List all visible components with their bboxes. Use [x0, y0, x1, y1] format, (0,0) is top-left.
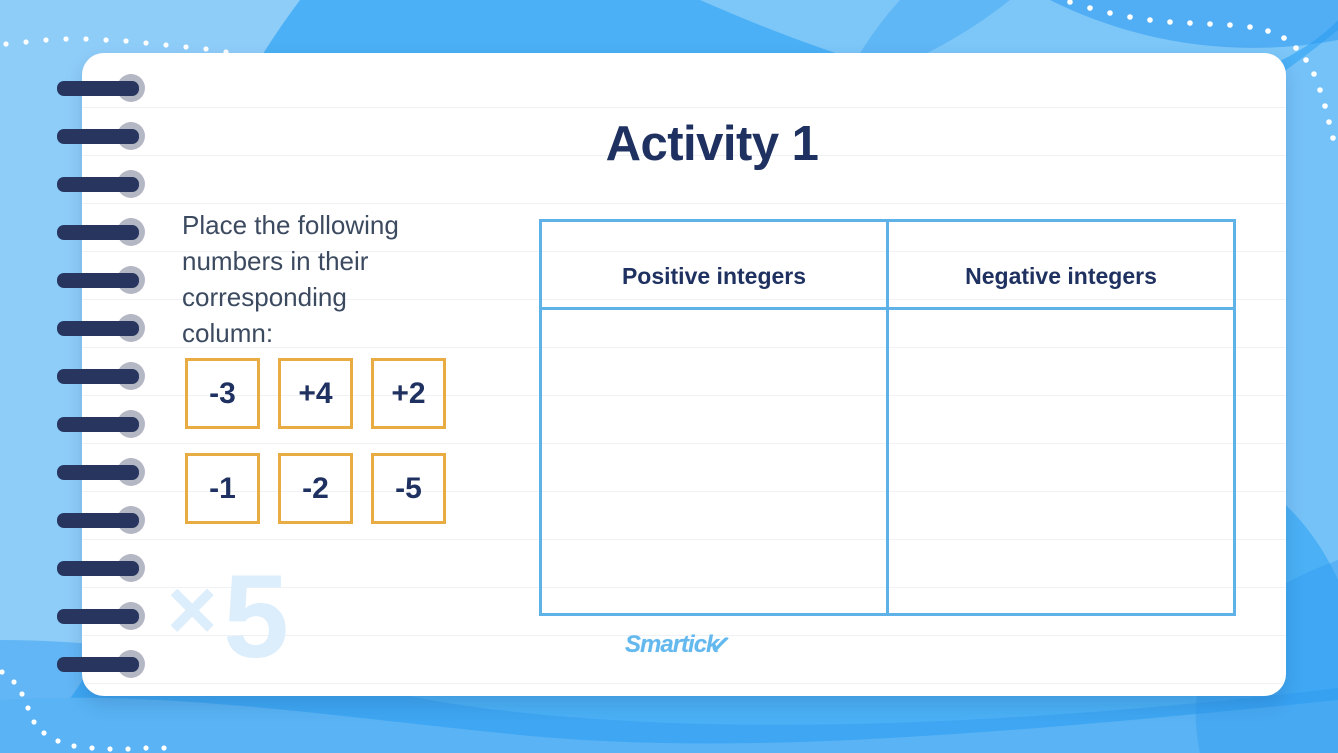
spiral-ring-bar	[57, 657, 139, 672]
notebook-page: ×5 Activity 1 Place the following number…	[82, 53, 1286, 696]
logo-wordmark: Smartick	[625, 631, 718, 659]
number-card[interactable]: -2	[278, 453, 353, 524]
spiral-binding	[0, 0, 150, 753]
spiral-ring-bar	[57, 177, 139, 192]
spiral-ring-bar	[57, 273, 139, 288]
answer-table-body	[542, 310, 1233, 613]
answer-table-header-row: Positive integers Negative integers	[542, 222, 1233, 310]
number-card[interactable]: +4	[278, 358, 353, 429]
spiral-ring-bar	[57, 369, 139, 384]
spiral-ring-bar	[57, 513, 139, 528]
number-card[interactable]: -5	[371, 453, 446, 524]
column-header-positive: Positive integers	[542, 222, 886, 307]
drop-zone-negative[interactable]	[889, 310, 1233, 613]
spiral-ring-bar	[57, 81, 139, 96]
spiral-ring-bar	[57, 321, 139, 336]
spiral-ring-bar	[57, 609, 139, 624]
check-icon: ✓	[707, 628, 734, 662]
column-header-negative: Negative integers	[889, 222, 1233, 307]
slide-canvas: ×5 Activity 1 Place the following number…	[0, 0, 1338, 753]
instructions-text: Place the following numbers in their cor…	[182, 208, 437, 352]
spiral-ring-bar	[57, 417, 139, 432]
number-card[interactable]: -1	[185, 453, 260, 524]
number-card-tray: -3 +4 +2 -1 -2 -5	[185, 358, 446, 524]
spiral-ring-bar	[57, 225, 139, 240]
answer-table: Positive integers Negative integers	[539, 219, 1236, 616]
page-title: Activity 1	[482, 116, 942, 172]
spiral-ring-bar	[57, 561, 139, 576]
number-card[interactable]: +2	[371, 358, 446, 429]
drop-zone-positive[interactable]	[542, 310, 886, 613]
spiral-ring-bar	[57, 129, 139, 144]
smartick-logo: Smartick ✓	[625, 630, 745, 660]
page-content: Activity 1 Place the following numbers i…	[82, 53, 1286, 696]
spiral-ring-bar	[57, 465, 139, 480]
number-card[interactable]: -3	[185, 358, 260, 429]
